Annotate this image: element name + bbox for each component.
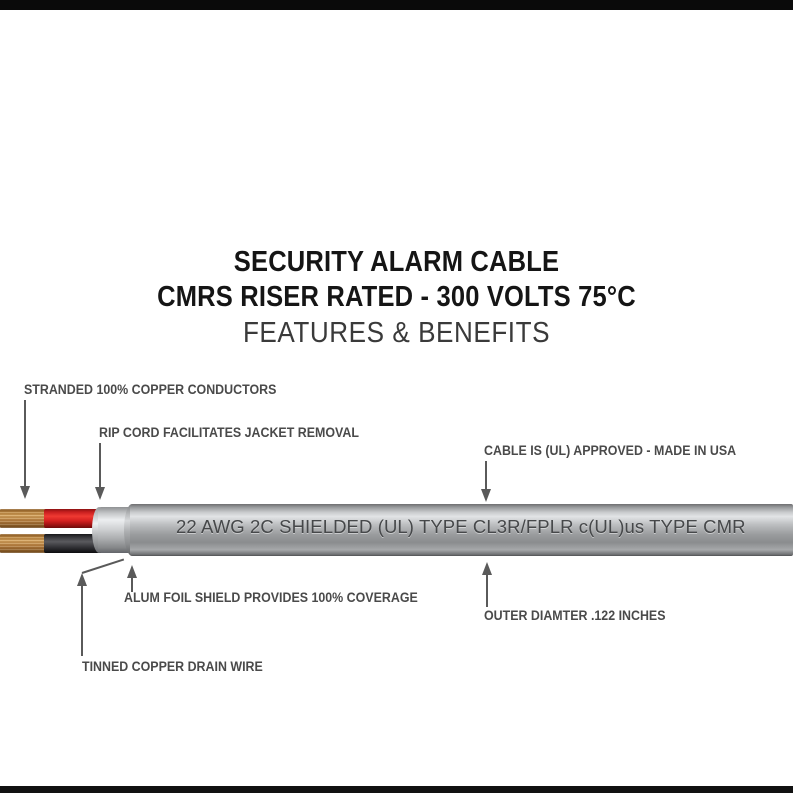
callout-label-stranded-conductors: STRANDED 100% COPPER CONDUCTORS [24,382,276,397]
callout-label-outer-diameter: OUTER DIAMTER .122 INCHES [484,608,665,623]
callout-label-drain-wire: TINNED COPPER DRAIN WIRE [82,659,263,674]
cable-spec-diagram: SECURITY ALARM CABLE CMRS RISER RATED - … [0,0,793,793]
cable-illustration: 22 AWG 2C SHIELDED (UL) TYPE CL3R/FPLR c… [0,500,793,560]
arrow-up-icon-outer-diameter [482,562,492,575]
callout-label-ul-approved: CABLE IS (UL) APPROVED - MADE IN USA [484,443,736,458]
jacket-print-text: 22 AWG 2C SHIELDED (UL) TYPE CL3R/FPLR c… [176,516,746,538]
arrow-down-icon-rip-cord [95,487,105,500]
product-title: SECURITY ALARM CABLE [48,246,746,279]
leader-line-rip-cord [99,443,101,487]
bottom-letterbox-bar [0,786,793,793]
product-rating-subtitle: CMRS RISER RATED - 300 VOLTS 75°C [48,279,746,315]
top-letterbox-bar [0,0,793,10]
leader-line-drain-wire-diagonal [82,558,124,573]
arrow-down-icon-stranded-conductors [20,486,30,499]
leader-line-drain-wire [81,586,83,656]
callout-label-rip-cord: RIP CORD FACILITATES JACKET REMOVAL [99,425,359,440]
leader-line-alum-foil-shield [131,578,133,592]
heading-block: SECURITY ALARM CABLE CMRS RISER RATED - … [0,246,793,352]
leader-line-ul-approved [485,461,487,489]
callout-label-alum-foil-shield: ALUM FOIL SHIELD PROVIDES 100% COVERAGE [124,590,418,605]
copper-strands-bottom [0,534,50,553]
copper-strands-top [0,509,50,528]
leader-line-stranded-conductors [24,400,26,486]
leader-line-outer-diameter [486,575,488,607]
arrow-up-icon-drain-wire [77,573,87,586]
features-benefits-subtitle: FEATURES & BENEFITS [40,315,754,352]
arrow-up-icon-alum-foil-shield [127,565,137,578]
